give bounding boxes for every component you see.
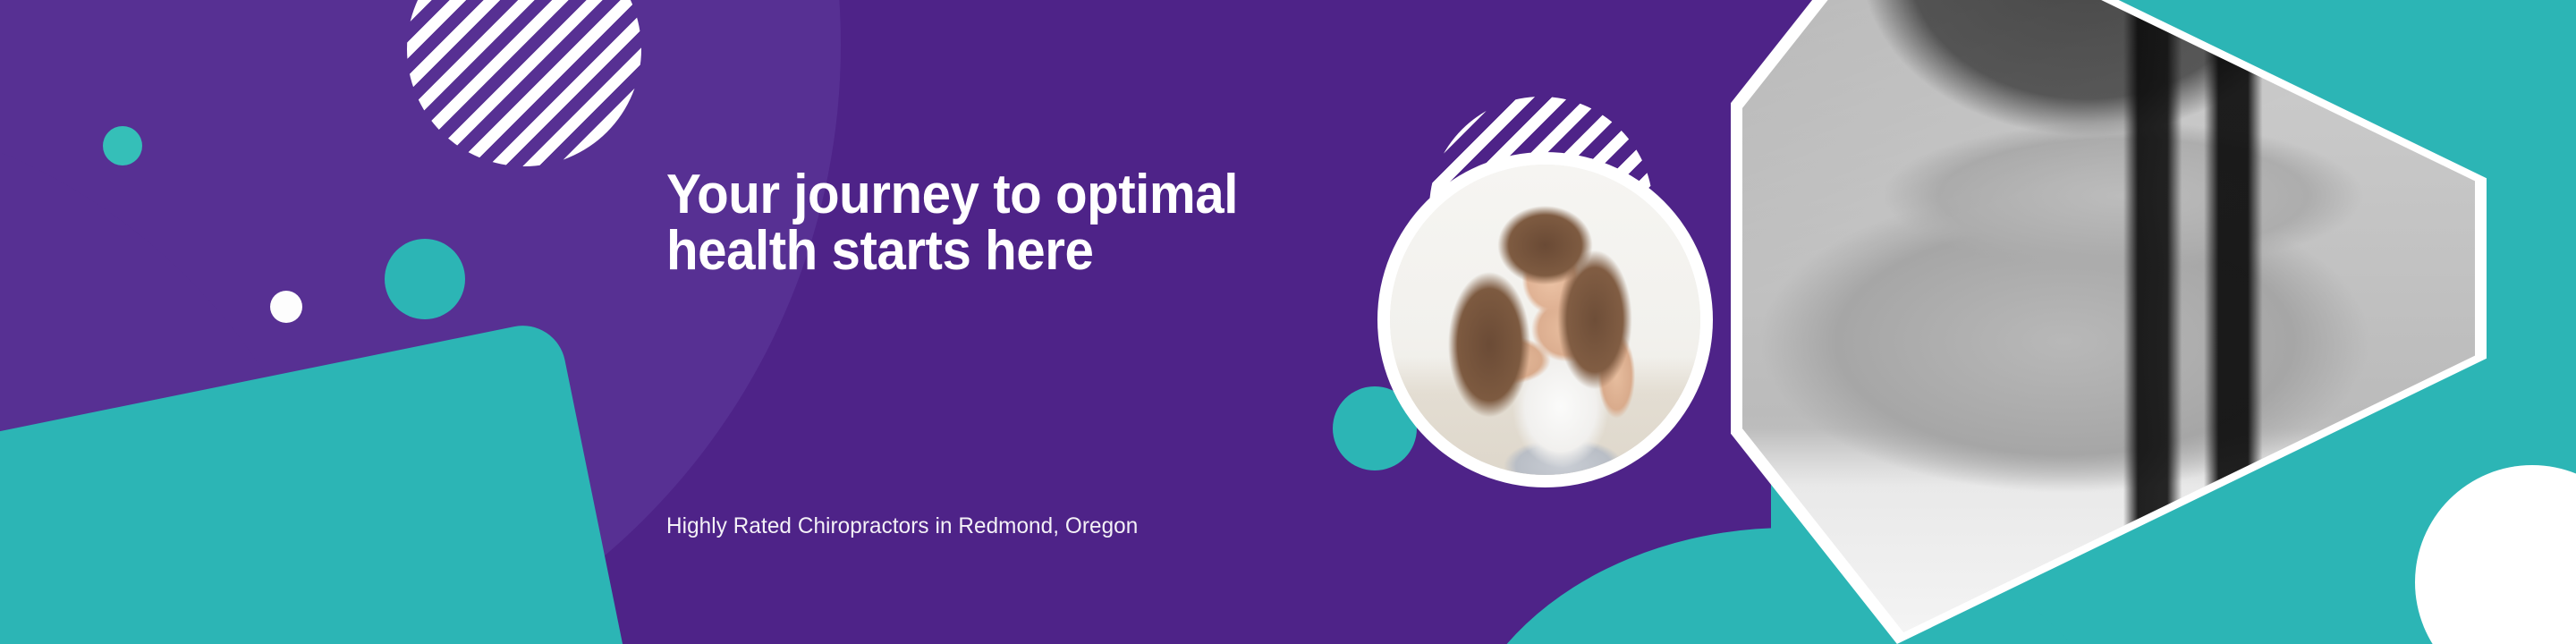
teal-dot-small-icon bbox=[103, 126, 142, 165]
portrait-circle-frame bbox=[1377, 152, 1713, 487]
back-pain-portrait-photo bbox=[1390, 165, 1700, 475]
portrait-circle-clip bbox=[1390, 165, 1700, 475]
teal-dot-medium-icon bbox=[385, 239, 465, 319]
page-title: Your journey to optimal health starts he… bbox=[666, 166, 1305, 279]
banner-copy: Your journey to optimal health starts he… bbox=[666, 166, 1346, 279]
hero-banner: Your journey to optimal health starts he… bbox=[0, 0, 2576, 644]
banner-subtitle: Highly Rated Chiropractors in Redmond, O… bbox=[666, 513, 1138, 539]
white-dot-small-icon bbox=[270, 291, 302, 323]
